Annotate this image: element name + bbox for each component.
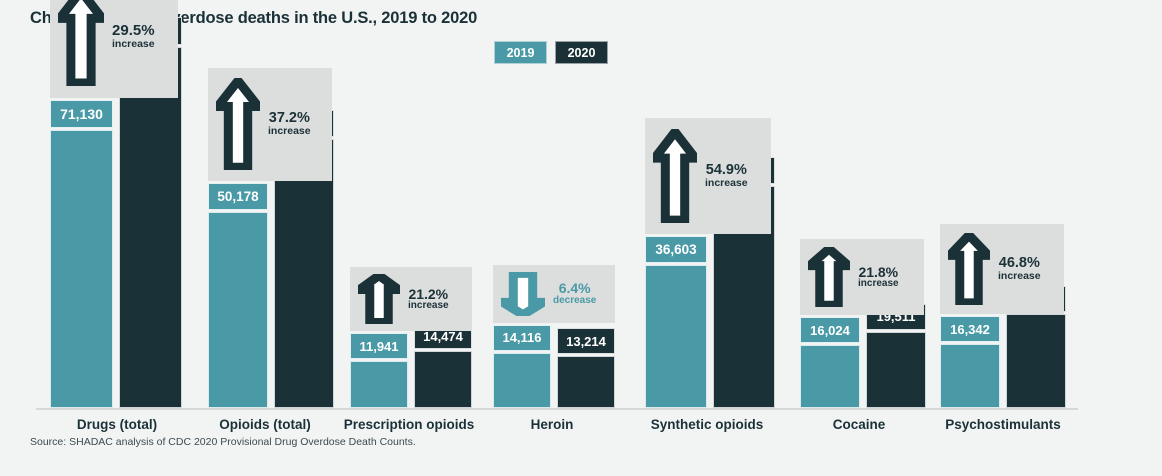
bar-value-label-2019: 11,941 <box>350 333 408 359</box>
change-percent: 21.8% <box>858 265 898 280</box>
bar-group: 16,02419,51121.8%increase <box>800 407 926 408</box>
change-annotation-panel: 37.2%increase <box>208 68 332 181</box>
bar-2019[interactable]: 16,024 <box>800 345 860 408</box>
bar-group: 36,60356,68854.9%increase <box>645 407 775 408</box>
change-percent: 29.5% <box>112 23 155 39</box>
change-direction-word: increase <box>408 301 449 312</box>
change-percent: 6.4% <box>559 281 591 296</box>
bar-value-label-2019: 50,178 <box>208 183 268 210</box>
bar-2020[interactable]: 14,474 <box>414 351 472 408</box>
source-note: Source: SHADAC analysis of CDC 2020 Prov… <box>30 436 416 448</box>
change-direction-word: increase <box>705 178 748 189</box>
chart-root: Changes in drug overdose deaths in the U… <box>0 0 1162 476</box>
change-percent: 37.2% <box>269 111 310 126</box>
change-direction-word: increase <box>268 126 311 137</box>
x-axis-line <box>36 408 1078 410</box>
bar-2019[interactable]: 16,342 <box>940 344 1000 408</box>
bar-value-label-2020: 13,214 <box>557 328 615 354</box>
change-annotation-panel: 46.8%increase <box>940 224 1064 314</box>
change-annotation-panel: 21.8%increase <box>800 239 924 315</box>
change-direction-word: increase <box>112 39 155 50</box>
bar-group: 16,34223,99546.8%increase <box>940 407 1066 408</box>
bar-2019[interactable]: 71,130 <box>50 130 113 408</box>
bar-2020[interactable]: 92,183 <box>119 47 182 408</box>
change-direction-word: increase <box>858 279 899 290</box>
bar-2019[interactable]: 50,178 <box>208 212 268 408</box>
change-direction-word: increase <box>998 271 1041 282</box>
bar-2020[interactable]: 19,511 <box>866 332 926 408</box>
bar-value-label-2019: 14,116 <box>493 325 551 351</box>
bar-2019[interactable]: 36,603 <box>645 265 707 408</box>
bar-group: 11,94114,47421.2%increase <box>350 407 472 408</box>
bar-2019[interactable]: 11,941 <box>350 361 408 408</box>
bar-group: 71,13092,18329.5%increase <box>50 407 182 408</box>
change-percent: 46.8% <box>999 256 1040 271</box>
bar-value-label-2019: 16,024 <box>800 317 860 343</box>
change-direction-word: decrease <box>553 296 596 307</box>
bar-value-label-2019: 71,130 <box>50 100 113 128</box>
change-annotation-panel: 29.5%increase <box>50 0 178 98</box>
bar-value-label-2019: 36,603 <box>645 236 707 263</box>
change-percent: 54.9% <box>706 163 747 178</box>
plot-area: 71,13092,18329.5%increase50,17868,82137.… <box>0 0 1162 476</box>
change-annotation-panel: 21.2%increase <box>350 267 472 331</box>
change-annotation-panel: 54.9%increase <box>645 118 771 234</box>
bar-2020[interactable]: 13,214 <box>557 356 615 408</box>
change-annotation-panel: 6.4%decrease <box>493 265 615 323</box>
bar-value-label-2019: 16,342 <box>940 316 1000 342</box>
change-percent: 21.2% <box>408 287 448 302</box>
bar-group: 50,17868,82137.2%increase <box>208 407 334 408</box>
bar-group: 14,11613,2146.4%decrease <box>493 407 615 408</box>
bar-2019[interactable]: 14,116 <box>493 353 551 408</box>
bar-2020[interactable]: 23,995 <box>1006 314 1066 408</box>
x-axis-label: Psychostimulants <box>893 417 1113 432</box>
